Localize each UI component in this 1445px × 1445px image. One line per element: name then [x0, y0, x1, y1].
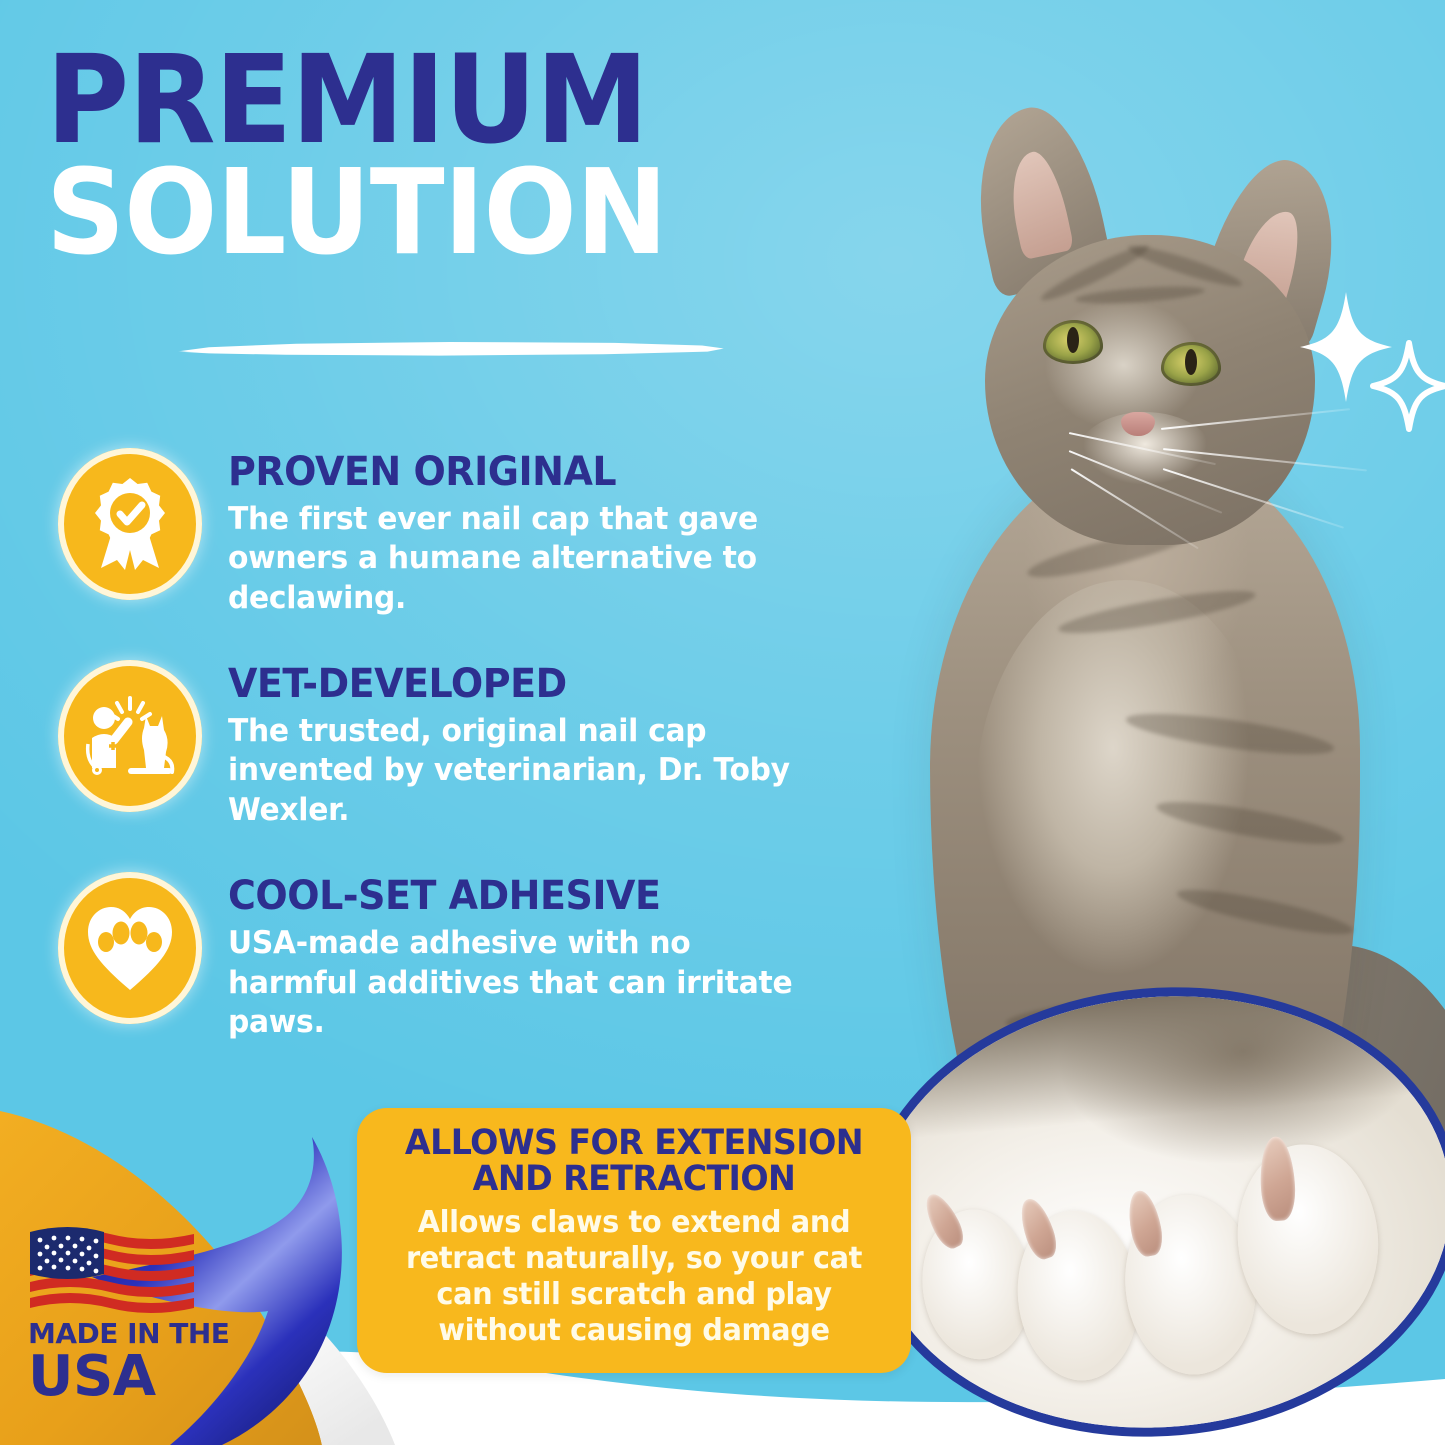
feature-heading: PROVEN ORIGINAL — [228, 452, 817, 492]
headline-line-2: SOLUTION — [46, 158, 790, 267]
callout-heading: ALLOWS FOR EXTENSION AND RETRACTION — [390, 1126, 878, 1197]
sparkle-outline-icon — [1370, 340, 1445, 432]
feature-body: The first ever nail cap that gave owners… — [228, 500, 823, 618]
headline-line-1: PREMIUM — [46, 44, 790, 156]
feature-list: PROVEN ORIGINAL The first ever nail cap … — [58, 448, 848, 1084]
feature-item: COOL-SET ADHESIVE USA-made adhesive with… — [58, 872, 848, 1042]
heart-paw-icon — [58, 872, 202, 1024]
feature-body: The trusted, original nail cap invented … — [228, 712, 823, 830]
vet-high-five-cat-icon — [58, 660, 202, 812]
swoosh-underline — [176, 338, 724, 360]
made-in-usa-line-2: USA — [28, 1350, 268, 1403]
cat-eye-left — [1043, 320, 1103, 364]
feature-item: VET-DEVELOPED The trusted, original nail… — [58, 660, 848, 830]
feature-heading: COOL-SET ADHESIVE — [228, 876, 817, 916]
award-ribbon-icon — [58, 448, 202, 600]
usa-flag-icon — [28, 1220, 196, 1316]
page-title: PREMIUM SOLUTION — [46, 44, 846, 267]
feature-item: PROVEN ORIGINAL The first ever nail cap … — [58, 448, 848, 618]
cat-paw-with-nail-caps-photo — [844, 963, 1445, 1445]
callout-body: Allows claws to extend and retract natur… — [387, 1205, 880, 1349]
extension-retraction-callout: ALLOWS FOR EXTENSION AND RETRACTION Allo… — [357, 1108, 911, 1373]
feature-heading: VET-DEVELOPED — [228, 664, 817, 704]
made-in-usa-badge: MADE IN THE USA — [28, 1220, 268, 1403]
cat-eye-right — [1161, 342, 1221, 386]
product-feature-graphic: PREMIUM SOLUTION PROVEN ORIGINAL The fir… — [0, 0, 1445, 1445]
